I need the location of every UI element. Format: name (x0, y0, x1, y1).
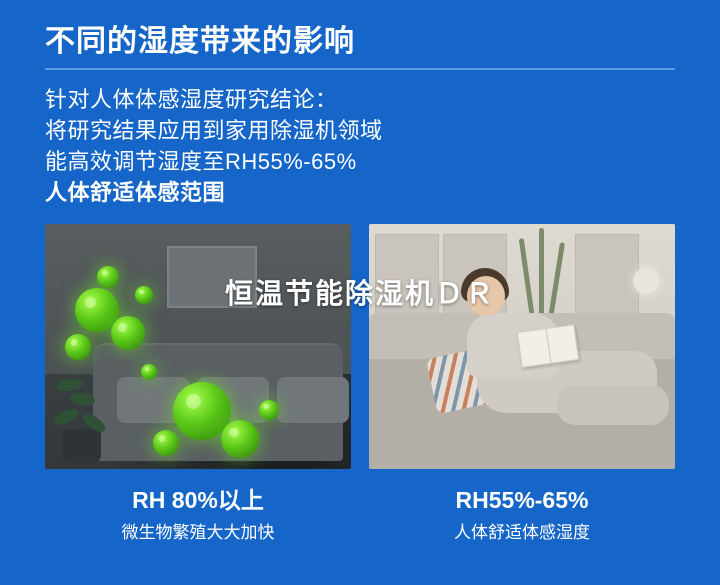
page-title: 不同的湿度带来的影响 (45, 0, 675, 64)
microbe-icon-3 (65, 334, 91, 360)
poster-root: 不同的湿度带来的影响 针对人体体感湿度研究结论： 将研究结果应用到家用除湿机领域… (0, 0, 720, 585)
caption-right: RH55%-65% 人体舒适体感湿度 (369, 485, 675, 545)
left-plant-leaf-4 (56, 377, 84, 393)
body-line-4: 人体舒适体感范围 (45, 177, 675, 208)
left-plant-leaf-1 (52, 406, 81, 428)
microbe-icon-4 (97, 266, 119, 288)
caption-right-main: RH55%-65% (369, 485, 675, 515)
left-plant-leaf-2 (68, 391, 96, 407)
microbe-icon-2 (111, 316, 145, 350)
body-text-block: 针对人体体感湿度研究结论： 将研究结果应用到家用除湿机领域 能高效调节湿度至RH… (45, 84, 675, 208)
left-plant-pot (63, 429, 101, 463)
right-person-legs (557, 385, 669, 425)
photo-high-humidity (45, 224, 351, 469)
right-plant-stalk-2 (539, 228, 544, 318)
caption-left-main: RH 80%以上 (45, 485, 351, 515)
caption-left: RH 80%以上 微生物繁殖大大加快 (45, 485, 351, 545)
body-line-2: 将研究结果应用到家用除湿机领域 (45, 115, 675, 146)
left-plant (51, 343, 113, 463)
microbe-icon-5 (135, 286, 153, 304)
microbe-icon-8 (153, 430, 179, 456)
title-divider (45, 68, 675, 70)
caption-left-sub: 微生物繁殖大大加快 (45, 521, 351, 545)
body-line-3: 能高效调节湿度至RH55%-65% (45, 146, 675, 177)
image-row (45, 224, 675, 469)
photo-comfort-humidity (369, 224, 675, 469)
caption-right-sub: 人体舒适体感湿度 (369, 521, 675, 545)
right-person-head (467, 276, 505, 316)
left-cushion-3 (277, 377, 349, 423)
body-line-1: 针对人体体感湿度研究结论： (45, 84, 675, 115)
microbe-icon-9 (259, 400, 279, 420)
left-wall-frame (167, 246, 257, 308)
microbe-icon-7 (221, 420, 259, 458)
right-lamp-icon (633, 268, 659, 294)
microbe-icon-10 (141, 364, 157, 380)
caption-row: RH 80%以上 微生物繁殖大大加快 RH55%-65% 人体舒适体感湿度 (45, 485, 675, 545)
